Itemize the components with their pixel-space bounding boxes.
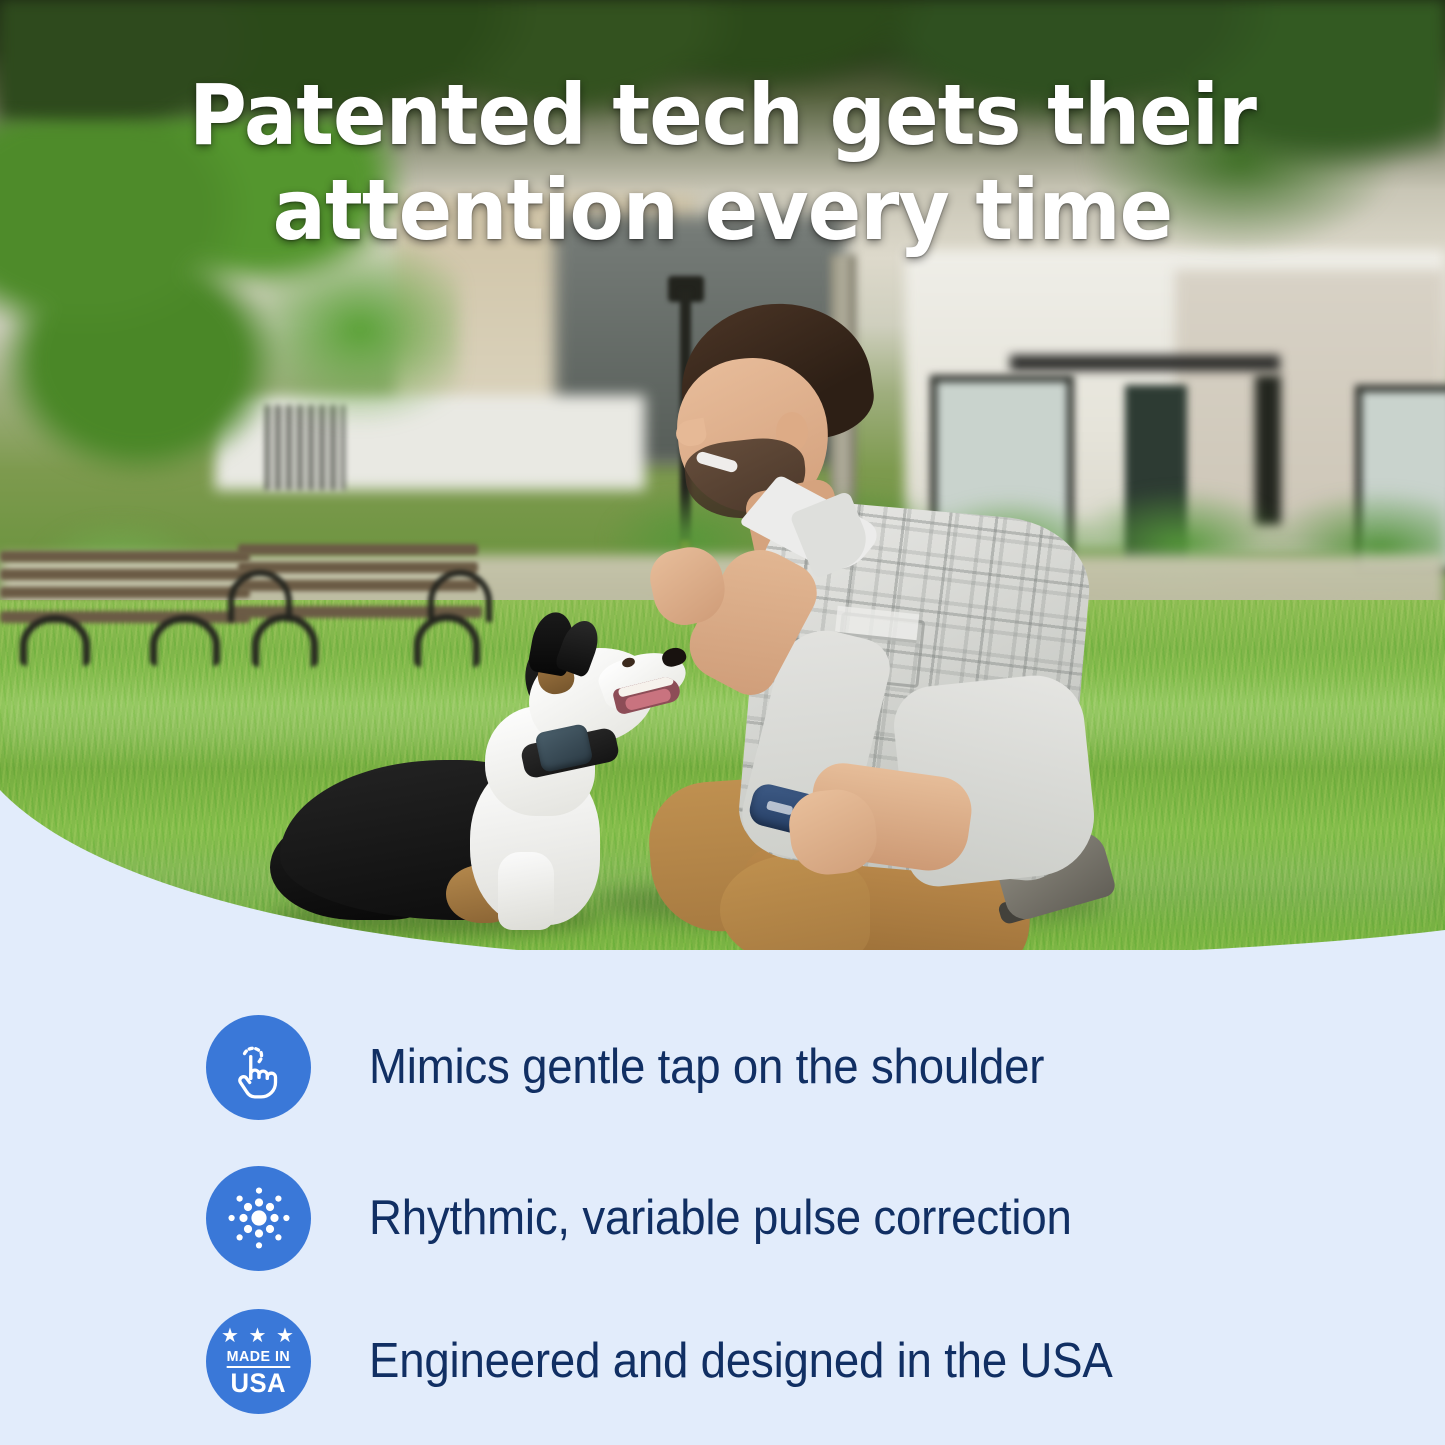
list-item[interactable]: Rhythmic, variable pulse correction [206,1165,1356,1271]
radial-pulse-icon [206,1166,311,1271]
usa-badge-inner: ★ ★ ★ MADE IN USA [221,1326,296,1397]
feature-list: Mimics gentle tap on the shoulder [0,0,1445,1445]
list-item-label: Mimics gentle tap on the shoulder [369,1039,1044,1095]
tap-hand-icon [206,1015,311,1120]
list-item-label: Rhythmic, variable pulse correction [369,1190,1072,1246]
badge-usa-text: USA [231,1370,287,1397]
badge-made-in-text: MADE IN [227,1349,291,1368]
list-item[interactable]: Mimics gentle tap on the shoulder [206,1014,1356,1120]
list-item-label: Engineered and designed in the USA [369,1333,1113,1389]
badge-stars: ★ ★ ★ [221,1326,296,1346]
list-item[interactable]: ★ ★ ★ MADE IN USA Engineered and designe… [206,1308,1356,1414]
made-in-usa-badge-icon: ★ ★ ★ MADE IN USA [206,1309,311,1414]
product-feature-card: Patented tech gets their attention every… [0,0,1445,1445]
